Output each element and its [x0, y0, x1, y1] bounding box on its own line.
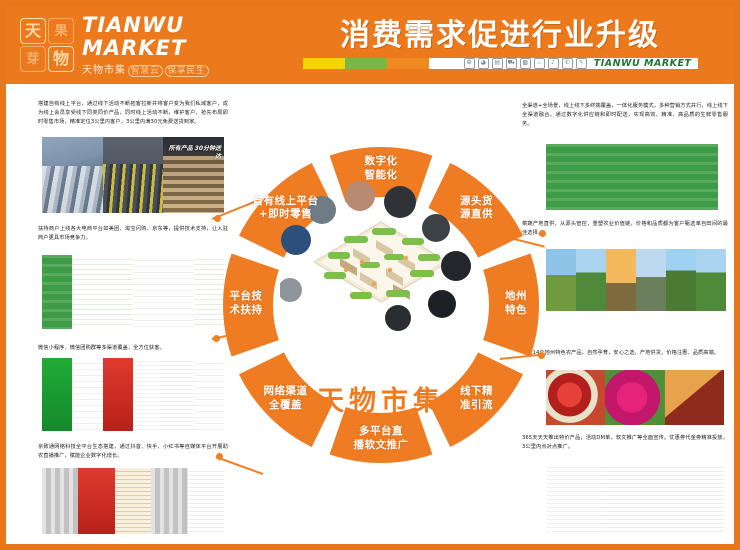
- delivery-promise-overlay: 所有产品 30分钟送达: [163, 145, 221, 161]
- logo-cn-name-row: 天物市集智慧云保享民生: [82, 61, 209, 76]
- dragon-fruit-photo: [605, 370, 664, 425]
- seg-network-label: 网络渠道 全覆盖: [238, 385, 334, 412]
- title-underbar: ❂ ◕ ▤ ⛟ ▩ ♨ ♪ ✆ ✎ TIANWU MARKET: [303, 57, 698, 70]
- seg-livestream-label: 多平台直 播软文推广: [333, 425, 429, 452]
- dm-flyer-left: [546, 464, 605, 534]
- sprout-icon: 芽: [20, 46, 46, 72]
- block-platform-support-text: 扶持商户上线各大电商平台如美团、淘宝闪购、京东等，提供技术支持，让入驻商户更具市…: [38, 225, 228, 243]
- poster-header: 天 果 芽 物 TIANWU MARKET 天物市集智慧云保享民生 消费需求促进…: [6, 6, 734, 84]
- block-local-specialty-photos: [546, 370, 724, 425]
- group-buy-app-screen: [42, 255, 72, 329]
- coupon-app-screen: [163, 255, 193, 329]
- logo-mark-icon: 天 果 芽 物: [20, 18, 74, 72]
- sunset-field-photo: [666, 249, 696, 311]
- strategy-wheel: 天物市集 数字化 智能化源头货 源直供地州 特色线下精 准引流多平台直 播软文推…: [220, 144, 542, 466]
- logo-cn-name: 天物市集: [82, 65, 126, 76]
- apple-photo: [546, 370, 605, 425]
- delivery-riders-photo: [103, 137, 164, 213]
- order-detail-app-screen: [103, 255, 133, 329]
- box-icon: ▤: [492, 58, 503, 69]
- header-title-zone: 消费需求促进行业升级 ❂ ◕ ▤ ⛟ ▩ ♨ ♪ ✆ ✎ TIANWU MARK…: [276, 6, 734, 84]
- block-wechat-channels-photos: [42, 358, 224, 431]
- dm-flyer-right: [665, 464, 724, 534]
- logo-en-line1: TIANWU: [82, 14, 209, 36]
- channel-list-slide: [632, 144, 675, 210]
- logo-tag-2: 保享民生: [165, 65, 209, 77]
- phone-icon: ✆: [562, 58, 573, 69]
- terminal-device-slide: [675, 144, 718, 210]
- greenhouse-photo: [576, 249, 606, 311]
- logo-en-line2: MARKET: [82, 37, 209, 59]
- logo-glyph-tian: 天: [20, 18, 46, 44]
- connector-dot-left-2: [213, 335, 220, 342]
- cured-meat-photo: [665, 370, 724, 425]
- block-local-specialty-text: 优选14个地州特色农产品，自然孕育，安心之选，产地供货，价格注惠、品质高端。: [522, 349, 728, 358]
- leaflet-photo: [188, 468, 224, 534]
- block-source-direct-photos: [546, 249, 726, 311]
- block-source-direct-text: 菜蔬产地直供，从源头管控，重塑农业价值链，价格和品质都为客户甄选单自田间的最佳选…: [522, 220, 728, 238]
- leaf-icon: ❂: [464, 58, 475, 69]
- chart-icon: ♪: [548, 58, 559, 69]
- logo-tag-1: 智慧云: [128, 65, 163, 77]
- block-livestream-promo-photos: [42, 468, 224, 534]
- service-model-slide: [589, 144, 632, 210]
- block-daily-promo-text: 365天天天推出特价产品，活动DM单，软文推广等全面宣传。优惠券代金券精准投放，…: [522, 434, 728, 452]
- seg-platform-label: 自有线上平台 +即时零售: [238, 195, 334, 222]
- fruit-icon: 果: [48, 18, 74, 44]
- seg-offline-label: 线下精 准引流: [428, 385, 524, 412]
- product-list-app-screen: [72, 255, 102, 329]
- seg-local-label: 地州 特色: [468, 290, 564, 317]
- underbar-orange: [387, 58, 429, 69]
- flyer-screen: [133, 358, 163, 431]
- wheat-field-photo: [606, 249, 636, 311]
- red-promo-screen: [103, 358, 133, 431]
- pen-icon: ✎: [576, 58, 587, 69]
- delivery-vans-photo: [42, 137, 103, 213]
- wechat-group-screen: [72, 358, 102, 431]
- basket-icon: ▩: [520, 58, 531, 69]
- block-wechat-channels-text: 微信小程序、微信团购群等多渠道覆盖，全方位获客。: [38, 344, 228, 353]
- block-instant-retail-text: 搭建自有线上平台，通过线下活动不断拓客拉新并将客户变为我们私域客户，成为线上会员…: [38, 100, 228, 127]
- cart-icon: ⛟: [506, 58, 517, 69]
- block-daily-promo-photos: [546, 464, 724, 534]
- brand-logo: 天 果 芽 物 TIANWU MARKET 天物市集智慧云保享民生: [6, 6, 276, 84]
- infographic-poster: 天 果 芽 物 TIANWU MARKET 天物市集智慧云保享民生 消费需求促进…: [0, 0, 740, 550]
- bell-icon: ♨: [534, 58, 545, 69]
- mini-program-screen: [42, 358, 72, 431]
- store-shelf-photo: 所有产品 30分钟送达: [163, 137, 224, 213]
- tea-terrace-photo: [696, 249, 726, 311]
- header-brand-en: TIANWU MARKET: [594, 58, 692, 69]
- supply-chain-slide: [546, 144, 589, 210]
- underbar-green: [345, 58, 387, 69]
- block-instant-retail-photos: 所有产品 30分钟送达: [42, 137, 224, 213]
- page-title: 消费需求促进行业升级: [340, 20, 660, 52]
- block-omnichannel-text: 全渠道+全场景，线上线下多终端覆盖，一体化服务模式，多种营销方式并行，线上线下全…: [522, 102, 728, 129]
- block-platform-support-photos: [42, 255, 224, 329]
- dm-flyer-mid: [605, 464, 664, 534]
- underbar-yellow: [303, 58, 345, 69]
- promo-poster-photo: [115, 468, 151, 534]
- seg-digital-label: 数字化 智能化: [333, 155, 429, 182]
- promo-app-screen: [133, 255, 163, 329]
- block-livestream-promo-text: 京致通网络科技全平台生态搭建，通过抖音、快手、小红书等自媒体平台开展助农直播推广…: [38, 443, 228, 461]
- live-stream-photo: [78, 468, 114, 534]
- block-omnichannel-photos: [546, 144, 718, 210]
- apple-icon: ◕: [478, 58, 489, 69]
- logo-glyph-wu: 物: [48, 46, 74, 72]
- catalog-screen: [163, 358, 193, 431]
- store-front-photo: [42, 468, 78, 534]
- mountain-farm-photo: [636, 249, 666, 311]
- seg-tech-label: 平台技 术扶持: [198, 290, 294, 317]
- seg-source-label: 源头货 源直供: [428, 195, 524, 222]
- market-photo: [151, 468, 187, 534]
- underbar-icon-strip: ❂ ◕ ▤ ⛟ ▩ ♨ ♪ ✆ ✎ TIANWU MARKET: [429, 58, 698, 69]
- logo-wordmark: TIANWU MARKET 天物市集智慧云保享民生: [82, 14, 209, 75]
